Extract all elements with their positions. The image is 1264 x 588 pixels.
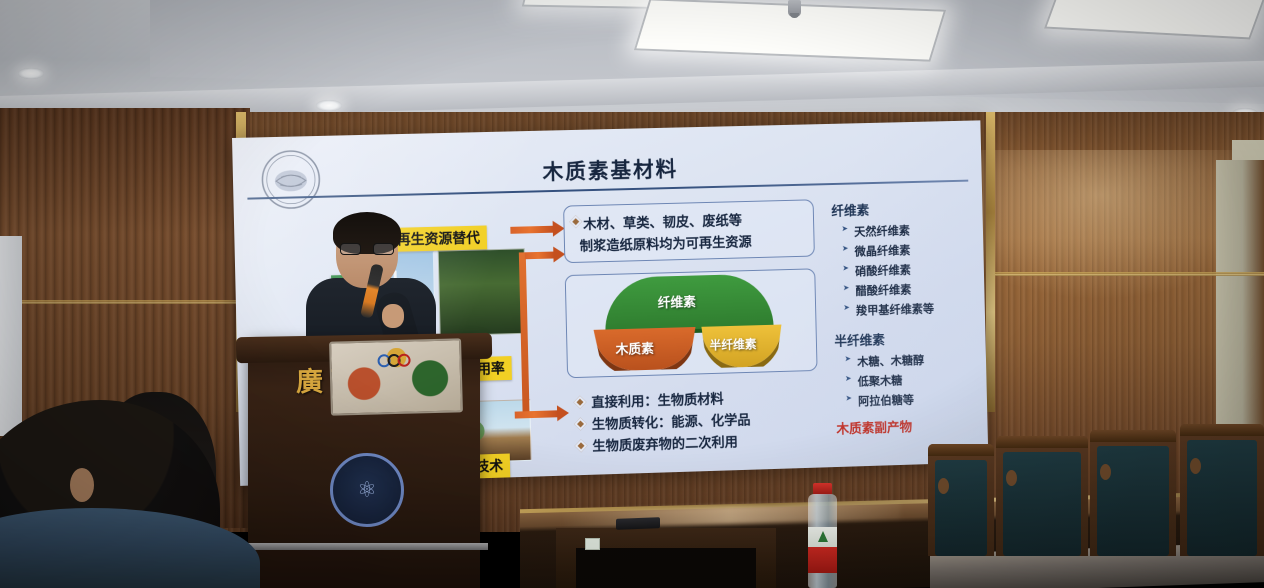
hemicellulose-item: 阿拉伯糖等 [845,390,979,410]
speaker-glasses [340,243,394,255]
cellulose-item: 醋酸纤维素 [843,280,977,299]
cellulose-item: 天然纤维素 [841,221,975,240]
chair-knob [1100,464,1111,480]
conference-chair[interactable] [928,444,994,556]
laptop [329,338,463,415]
conference-room-photo: 木质素基材料 实现碳减排目标 再生资源替代 利用率 捕集技术 木材、草类、韧皮 [0,0,1264,588]
chair-knob [938,478,949,494]
arrow-right-icon [525,252,555,260]
chair-backrest [1003,452,1081,556]
slide-right-column: 纤维素 天然纤维素 微晶纤维素 硝酸纤维素 醋酸纤维素 羧甲基纤维素等 半纤维素… [829,197,980,442]
gold-trim-strip [995,272,1264,276]
recessed-downlight [18,68,44,79]
cellulose-item: 微晶纤维素 [842,240,976,259]
projector-remote[interactable] [616,517,660,530]
pie-label-lignin: 木质素 [615,338,654,358]
chair-top-rail [996,436,1088,448]
gold-trim-strip [986,112,995,412]
application-bullet: 直接利用：生物质材料 [591,388,724,412]
pie-label-hemicellulose: 半纤维素 [709,335,756,353]
arrow-right-icon [510,226,554,234]
bottle-label-mountain-icon [808,527,837,547]
hemicellulose-group-title: 半纤维素 [834,327,978,350]
audience-ear [70,468,94,502]
chair-backrest [935,460,987,556]
conference-chair[interactable] [1090,430,1176,556]
biomass-composition-pie-chart: 纤维素 木质素 半纤维素 [590,273,788,375]
lignin-byproduct-title: 木质素副产物 [836,414,980,437]
podium-rail [240,543,488,550]
cellulose-item: 硝酸纤维素 [842,260,976,279]
table-name-card [585,538,600,550]
cellulose-group-title: 纤维素 [831,197,975,219]
chair-top-rail [1090,430,1176,442]
materials-line-1: 木材、草类、韧皮、废纸等 [583,209,742,233]
chair-top-rail [1180,424,1264,436]
chair-knob [1006,470,1017,486]
wall-right-column [1216,160,1264,430]
olympic-rings-icon [377,353,417,368]
pie-label-cellulose: 纤维素 [657,291,696,311]
slide-title: 木质素基材料 [233,146,982,194]
podium-emblem-icon: ⚛ [330,453,404,527]
table-shadow [576,548,756,588]
chair-backrest [1187,440,1257,556]
arrow-right-icon [515,410,559,418]
gold-trim-strip [0,300,240,304]
collage-label-top: 再生资源替代 [390,225,488,251]
cellulose-item: 羧甲基纤维素等 [843,299,977,318]
fire-sprinkler-icon [788,0,801,17]
bottle-brand-label [808,547,837,573]
hemicellulose-item: 低聚木糖 [845,370,979,390]
door-panel[interactable] [0,236,22,436]
chair-top-rail [928,444,994,456]
speaker-hand [382,304,404,328]
water-bottle[interactable] [806,483,839,588]
chair-backrest [1097,446,1169,556]
conference-chair[interactable] [996,436,1088,556]
hemicellulose-item: 木糖、木糖醇 [844,350,978,370]
conference-chair[interactable] [1180,424,1264,556]
recessed-downlight [316,100,342,111]
forest-photo [438,248,527,336]
chair-knob [1190,458,1201,474]
